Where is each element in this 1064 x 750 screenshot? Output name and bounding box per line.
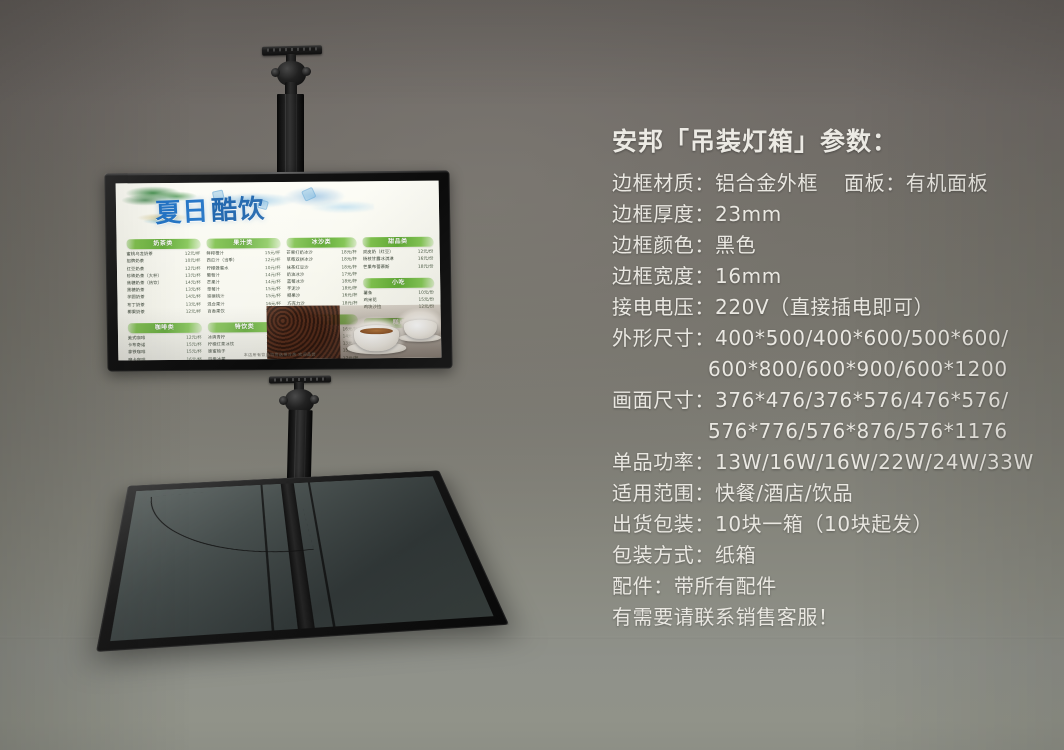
spec-label: 外形尺寸： <box>612 326 715 350</box>
lightbox-back-panel <box>110 476 493 641</box>
swivel-knob-right-lower <box>310 395 319 404</box>
menu-category-header: 冰沙类 <box>286 237 357 248</box>
poster-title-part1: 夏日 <box>154 197 209 229</box>
menu-category-label: 咖啡类 <box>155 325 175 331</box>
ceiling-mount-upper <box>258 46 338 186</box>
lightbox-lower <box>96 470 509 652</box>
spec-label: 边框颜色： <box>612 233 715 257</box>
lightbox-face-upper: 夏日酷饮 奶茶类蜜桃乌龙奶茶12元/杯招牌奶茶10元/杯红豆奶茶12元/杯珍珠奶… <box>116 181 442 361</box>
menu-category-label: 冰沙类 <box>312 240 332 246</box>
spec-label: 边框宽度： <box>612 264 715 288</box>
menu-item-name: 椰果奶茶 <box>127 309 145 316</box>
menu-category-label: 小吃 <box>392 280 405 286</box>
menu-category-label: 特饮类 <box>235 324 255 330</box>
menu-item-price: 12元/杯 <box>183 308 202 315</box>
menu-item-name: 草莓汁 <box>207 287 220 294</box>
spec-value: 16mm <box>715 264 782 288</box>
menu-category: 果汁类鲜榨橙汁15元/杯西瓜汁（当季）12元/杯柠檬蜂蜜水10元/杯葡萄汁14元… <box>206 238 281 315</box>
spec-list: 边框材质：铝合金外框面板：有机面板边框厚度：23mm边框颜色：黑色边框宽度：16… <box>612 168 1042 633</box>
swivel-knob-left-upper <box>271 68 280 77</box>
spec-line: 配件：带所有配件 <box>612 571 1042 602</box>
menu-category: 冰沙类芒果打奶冰沙18元/杯草莓双拼冰沙18元/杯抹茶红豆沙18元/杯奶油冰沙1… <box>286 237 357 307</box>
spec-line: 576*776/576*876/576*1176 <box>612 416 1042 447</box>
spec-panel: 安邦「吊装灯箱」参数： 边框材质：铝合金外框面板：有机面板边框厚度：23mm边框… <box>612 122 1042 633</box>
menu-item-name: 抹茶红豆沙 <box>287 264 309 271</box>
menu-item-list: 芒果打奶冰沙18元/杯草莓双拼冰沙18元/杯抹茶红豆沙18元/杯奶油冰沙17元/… <box>286 249 357 307</box>
menu-item-name: 柠檬蜂蜜水 <box>207 265 229 272</box>
spec-line: 边框材质：铝合金外框面板：有机面板 <box>612 168 1042 199</box>
menu-item-list: 蜜桃乌龙奶茶12元/杯招牌奶茶10元/杯红豆奶茶12元/杯珍珠奶茶（大杯）13元… <box>126 251 201 316</box>
spec-value: 黑色 <box>715 233 756 257</box>
menu-item-name: 薯条 <box>363 290 372 297</box>
menu-category-label: 甜品类 <box>388 239 408 245</box>
spec-label: 包装方式： <box>612 543 715 567</box>
spec-line: 外形尺寸：400*500/400*600/500*600/ <box>612 323 1042 354</box>
spec-label: 适用范围： <box>612 481 715 505</box>
spec-label: 接电电压： <box>612 295 715 319</box>
spec-value: 纸箱 <box>715 543 756 567</box>
spec-value-extra: 面板：有机面板 <box>818 171 988 195</box>
menu-item-name: 蓝莓冰沙 <box>287 279 305 286</box>
menu-item-name: 椰果沙 <box>287 293 300 300</box>
menu-category-header: 咖啡类 <box>127 323 201 334</box>
spec-value: 376*476/376*576/476*576/ <box>715 388 1009 412</box>
spec-label: 画面尺寸： <box>612 388 715 412</box>
poster-title: 夏日酷饮 <box>154 189 266 231</box>
spec-line: 边框厚度：23mm <box>612 199 1042 230</box>
spec-value: 576*776/576*876/576*1176 <box>708 419 1008 443</box>
spec-line: 600*800/600*900/600*1200 <box>612 354 1042 385</box>
spec-value: 铝合金外框 <box>715 171 818 195</box>
spec-value: 有需要请联系销售客服！ <box>612 605 839 629</box>
coffee-liquid <box>360 328 393 335</box>
poster-title-part2: 酷饮 <box>210 195 265 227</box>
menu-category: 奶茶类蜜桃乌龙奶茶12元/杯招牌奶茶10元/杯红豆奶茶12元/杯珍珠奶茶（大杯）… <box>126 239 201 316</box>
spec-value: 快餐/酒店/饮品 <box>715 481 853 505</box>
ceiling-plate-holes-upper <box>267 47 317 51</box>
menu-item-name: 芒果汁 <box>207 279 220 286</box>
spec-line: 包装方式：纸箱 <box>612 540 1042 571</box>
menu-item-row: 芒果布蕾慕斯18元/份 <box>363 263 433 271</box>
spec-line: 边框宽度：16mm <box>612 261 1042 292</box>
menu-category-header: 小吃 <box>363 277 434 288</box>
menu-item-list: 双皮奶（红豆）12元/份杨枝甘露冰淇淋16元/份芒果布蕾慕斯18元/份 <box>363 249 434 271</box>
spec-line: 出货包装：10块一箱（10块起发） <box>612 509 1042 540</box>
menu-column: 奶茶类蜜桃乌龙奶茶12元/杯招牌奶茶10元/杯红豆奶茶12元/杯珍珠奶茶（大杯）… <box>126 236 202 357</box>
menu-category-label: 奶茶类 <box>153 241 173 247</box>
spec-value: 13W/16W/16W/22W/24W/33W <box>715 450 1034 474</box>
spec-label: 出货包装： <box>612 512 715 536</box>
menu-item-row: 椰果奶茶12元/杯 <box>127 308 201 316</box>
spec-line: 接电电压：220V（直接插电即可） <box>612 292 1042 323</box>
swivel-knob-left-lower <box>279 396 288 405</box>
spec-line: 有需要请联系销售客服！ <box>612 602 1042 633</box>
spec-value: 23mm <box>715 202 782 226</box>
spec-line: 适用范围：快餐/酒店/饮品 <box>612 478 1042 509</box>
menu-item-name: 芒果布蕾慕斯 <box>363 264 390 271</box>
menu-item-price: 18元/份 <box>415 263 434 270</box>
spec-line: 单品功率：13W/16W/16W/22W/24W/33W <box>612 447 1042 478</box>
spec-label: 单品功率： <box>612 450 715 474</box>
spec-value: 400*500/400*600/500*600/ <box>715 326 1009 350</box>
coffee-cup-main <box>354 325 400 351</box>
menu-poster: 夏日酷饮 奶茶类蜜桃乌龙奶茶12元/杯招牌奶茶10元/杯红豆奶茶12元/杯珍珠奶… <box>116 181 442 361</box>
menu-category-label: 果汁类 <box>233 240 253 246</box>
menu-item-name: 蜜桃乌龙奶茶 <box>126 251 153 258</box>
spec-value: 10块一箱（10块起发） <box>715 512 933 536</box>
spec-label: 边框厚度： <box>612 202 715 226</box>
lightbox-upper: 夏日酷饮 奶茶类蜜桃乌龙奶茶12元/杯招牌奶茶10元/杯红豆奶茶12元/杯珍珠奶… <box>104 171 452 372</box>
menu-item-name: 葡萄汁 <box>207 272 220 279</box>
spec-label: 边框材质： <box>612 171 715 195</box>
product-photo-scene: 夏日酷饮 奶茶类蜜桃乌龙奶茶12元/杯招牌奶茶10元/杯红豆奶茶12元/杯珍珠奶… <box>0 0 1064 750</box>
ceiling-plate-holes-lower <box>274 378 326 382</box>
spec-line: 画面尺寸：376*476/376*576/476*576/ <box>612 385 1042 416</box>
menu-item-name: 百香果饮 <box>207 308 225 315</box>
spec-title: 安邦「吊装灯箱」参数： <box>612 122 1042 162</box>
menu-category-header: 甜品类 <box>363 237 434 248</box>
menu-category-header: 果汁类 <box>206 238 280 249</box>
swivel-knob-right-upper <box>302 67 311 76</box>
menu-category-header: 奶茶类 <box>126 239 200 250</box>
spec-value: 带所有配件 <box>674 574 777 598</box>
spec-line: 边框颜色：黑色 <box>612 230 1042 261</box>
spec-label: 配件： <box>612 574 674 598</box>
spec-value: 600*800/600*900/600*1200 <box>708 357 1008 381</box>
spec-value: 220V（直接插电即可） <box>715 295 934 319</box>
menu-category: 甜品类双皮奶（红豆）12元/份杨枝甘露冰淇淋16元/份芒果布蕾慕斯18元/份 <box>363 237 434 271</box>
